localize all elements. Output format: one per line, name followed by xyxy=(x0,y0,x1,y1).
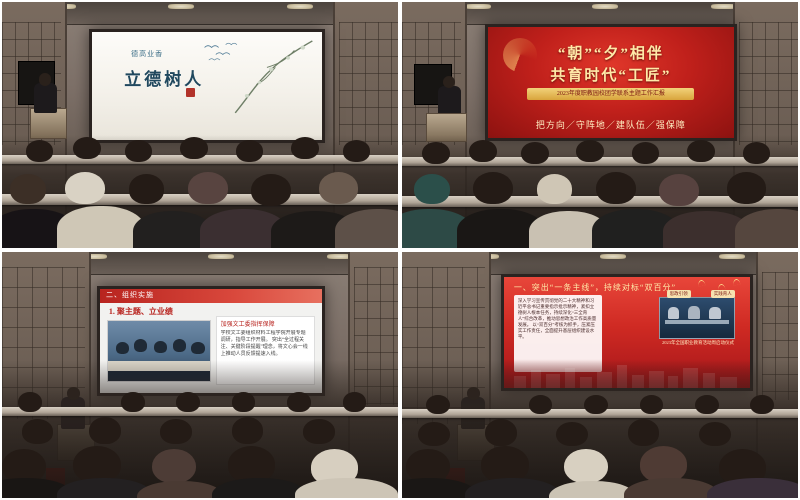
photo-top-right: “朝”“夕”相伴 共育时代“工匠” 2023年度职教园校团学联系主题工作汇报 把… xyxy=(402,2,798,248)
slide2-bottom: 把方向／守阵地／建队伍／强保障 xyxy=(488,118,734,131)
photo-bottom-left: 二、组织实施 1. 聚主题、立业绩 加强文工委指挥保障 学校文 xyxy=(2,252,398,498)
slide2-ribbon: 2023年度职教园校团学联系主题工作汇报 xyxy=(527,88,694,100)
slide2-line1: “朝”“夕”相伴 xyxy=(488,42,734,63)
audience-table-5 xyxy=(2,407,398,416)
report-slide: 二、组织实施 1. 聚主题、立业绩 加强文工委指挥保障 学校文 xyxy=(100,289,322,392)
speaker-head-3 xyxy=(67,387,80,399)
flying-birds-ink xyxy=(193,39,253,67)
slide3-header: 二、组织实施 xyxy=(106,290,154,300)
lectern-2 xyxy=(426,113,468,142)
calligraphy-slide: 德高业香 立德树人 xyxy=(92,32,322,140)
slide4-thumb-caption: 2023年全国职业教育活动周启动仪式 xyxy=(661,340,735,346)
slide3-section: 1. 聚主题、立业绩 xyxy=(109,306,173,317)
red-banner-slide: “朝”“夕”相伴 共育时代“工匠” 2023年度职教园校团学联系主题工作汇报 把… xyxy=(488,27,734,138)
wall-lattice-right xyxy=(339,22,398,145)
speaker-1 xyxy=(34,83,58,113)
dove-icon-1 xyxy=(698,280,706,287)
slide2-line2: 共育时代“工匠” xyxy=(488,64,734,85)
wall-lattice-right-2 xyxy=(739,22,798,145)
slide4-thumbnail xyxy=(659,297,735,339)
slide3-header-bar: 二、组织实施 xyxy=(100,289,322,302)
dove-icon-3 xyxy=(732,279,740,286)
slide1-seal xyxy=(186,88,195,97)
presentation-screen-4: 一、突出“一条主线”，持续对标“双百分” 深入学习宣传贯彻党的二十大精神和习近平… xyxy=(501,274,753,391)
city-skyline xyxy=(504,359,750,388)
slide4-chip-2: 实践育人 xyxy=(711,290,735,298)
photo-top-left: 德高业香 立德树人 xyxy=(2,2,398,248)
presentation-screen-1: 德高业香 立德树人 xyxy=(89,29,325,143)
speaker-head-4 xyxy=(467,387,480,399)
slide4-title: 一、突出“一条主线”，持续对标“双百分” xyxy=(514,282,676,293)
slide1-subtitle: 德高业香 xyxy=(131,49,163,59)
speaker-head-1 xyxy=(39,73,52,85)
red-theme-slide: 一、突出“一条主线”，持续对标“双百分” 深入学习宣传贯彻党的二十大精神和习近平… xyxy=(504,277,750,388)
presentation-screen-3: 二、组织实施 1. 聚主题、立业绩 加强文工委指挥保障 学校文 xyxy=(97,286,325,395)
wall-lattice-right-4 xyxy=(762,272,798,400)
slide4-chip-1: 思政引领 xyxy=(667,290,691,298)
slide3-text-panel: 加强文工委指挥保障 学校文工委组织材料工程学院开展专题调研，指导工作开展。 突出… xyxy=(216,316,316,384)
wall-lattice-right-3 xyxy=(354,267,398,405)
presentation-screen-2: “朝”“夕”相伴 共育时代“工匠” 2023年度职教园校团学联系主题工作汇报 把… xyxy=(485,24,737,141)
slide3-panel-title: 加强文工委指挥保障 xyxy=(221,319,311,328)
slide1-title: 立德树人 xyxy=(124,65,204,90)
slide3-team-photo xyxy=(107,320,211,382)
photo-collage: 德高业香 立德树人 xyxy=(0,0,800,500)
dove-icon-2 xyxy=(717,283,725,290)
slide3-panel-body: 学校文工委组织材料工程学院开展专题调研，指导工作开展。 突出“全过程关注、关键阶… xyxy=(221,330,311,380)
photo-bottom-right: 一、突出“一条主线”，持续对标“双百分” 深入学习宣传贯彻党的二十大精神和习近平… xyxy=(402,252,798,498)
